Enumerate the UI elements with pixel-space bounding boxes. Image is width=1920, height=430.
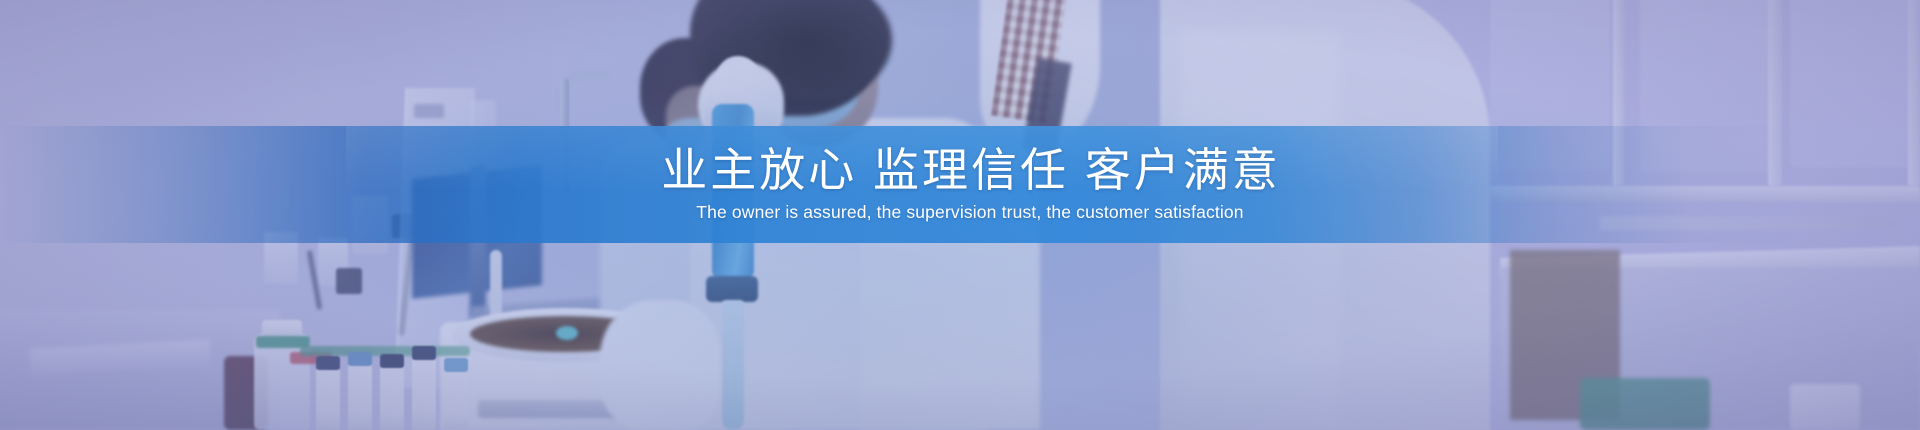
banner-subheadline: The owner is assured, the supervision tr… [696,202,1243,223]
hero-banner: 业主放心 监理信任 客户满意 The owner is assured, the… [0,0,1920,430]
banner-headline: 业主放心 监理信任 客户满意 [661,146,1281,196]
banner-text-block: 业主放心 监理信任 客户满意 The owner is assured, the… [0,126,1920,243]
